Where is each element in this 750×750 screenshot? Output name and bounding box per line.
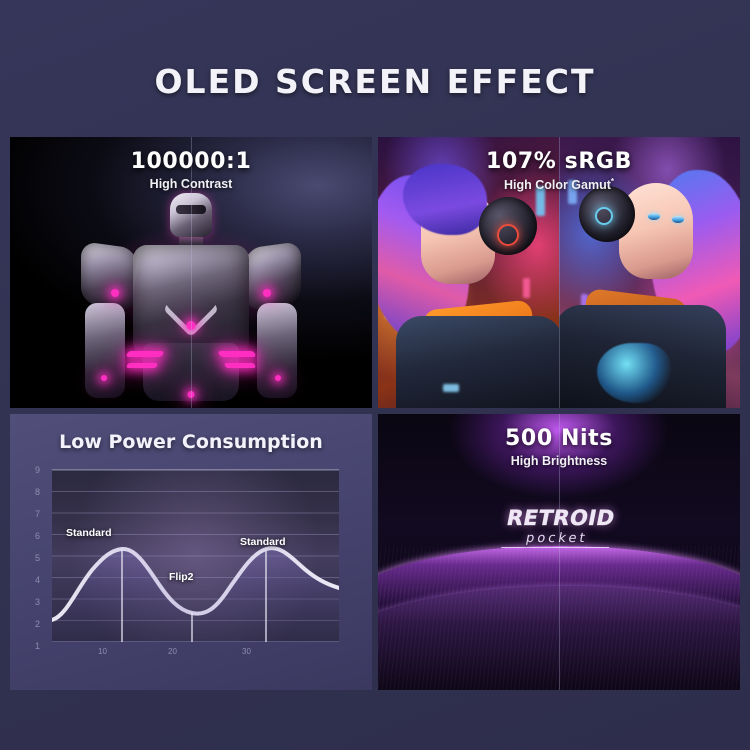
contrast-caption: 100000:1 High Contrast [10,149,372,191]
brightness-headline: 500 Nits [378,426,740,451]
panel-color-gamut: 107% sRGB High Color Gamut* [378,137,740,408]
mech-glow-dot [188,391,195,398]
mech-arm-left [85,303,125,398]
bokeh-light [523,278,530,298]
gamut-caption: 107% sRGB High Color Gamut* [378,149,740,192]
retroid-pocket-logo: RETROID pocket [501,506,617,548]
mech-shoulder-right [245,241,301,311]
chart-annotation-label: Flip2 [169,571,194,583]
glowing-arm [597,343,671,403]
mech-shoulder-left [81,241,137,311]
chart-plot-area [52,469,339,641]
mech-glow-dot [111,289,119,297]
x-tick-label: 30 [242,647,251,656]
page-title: OLED SCREEN EFFECT [0,62,750,101]
contrast-headline: 100000:1 [10,149,372,174]
mech-glow-dot [263,289,271,297]
chart-annotation-label: Standard [66,527,112,539]
panel-low-power: Low Power Consumption 9 8 7 6 5 4 3 2 1 [10,414,372,690]
y-tick-label: 3 [35,597,40,607]
mech-core-light [187,321,196,330]
y-tick-label: 4 [35,575,40,585]
brightness-caption: 500 Nits High Brightness [378,426,740,468]
dune-texture [378,586,740,690]
gamut-headline: 107% sRGB [378,149,740,174]
eye [672,216,684,223]
y-tick-label: 2 [35,619,40,629]
y-tick-label: 5 [35,553,40,563]
panel-high-brightness: RETROID pocket 500 Nits High Brightness [378,414,740,690]
poster-root: OLED SCREEN EFFECT [0,0,750,750]
mech-visor [176,205,206,214]
chart-annotation-label: Standard [240,536,286,548]
y-tick-label: 6 [35,531,40,541]
contrast-subhead: High Contrast [10,177,372,191]
mech-glow-stripe [126,363,158,368]
mech-glow-dot [101,375,107,381]
dune-ridge-near [378,586,740,690]
mech-figure-image [75,193,307,408]
gamut-subhead-text: High Color Gamut [504,178,611,192]
mech-glow-stripe [224,363,256,368]
jacket-panel-light [443,384,459,392]
x-tick-label: 10 [98,647,107,656]
gamut-subhead: High Color Gamut* [378,177,740,192]
mech-glow-stripe [218,351,257,357]
gamut-footnote-mark: * [611,177,614,186]
logo-sub-text: pocket [501,531,612,548]
y-tick-label: 1 [35,641,40,651]
x-tick-label: 20 [168,647,177,656]
panel-high-contrast: 100000:1 High Contrast [10,137,372,408]
jacket [396,316,559,408]
feature-grid: 100000:1 High Contrast [10,137,740,690]
y-tick-label: 8 [35,487,40,497]
brightness-subhead: High Brightness [378,454,740,468]
chart-title: Low Power Consumption [10,431,372,453]
y-tick-label: 7 [35,509,40,519]
mech-arm-right [257,303,297,398]
mech-glow-stripe [126,351,165,357]
logo-brand-text: RETROID [505,506,617,530]
power-consumption-chart [52,470,339,642]
y-tick-label: 9 [35,465,40,475]
mech-glow-dot [275,375,281,381]
mech-head [170,193,212,237]
